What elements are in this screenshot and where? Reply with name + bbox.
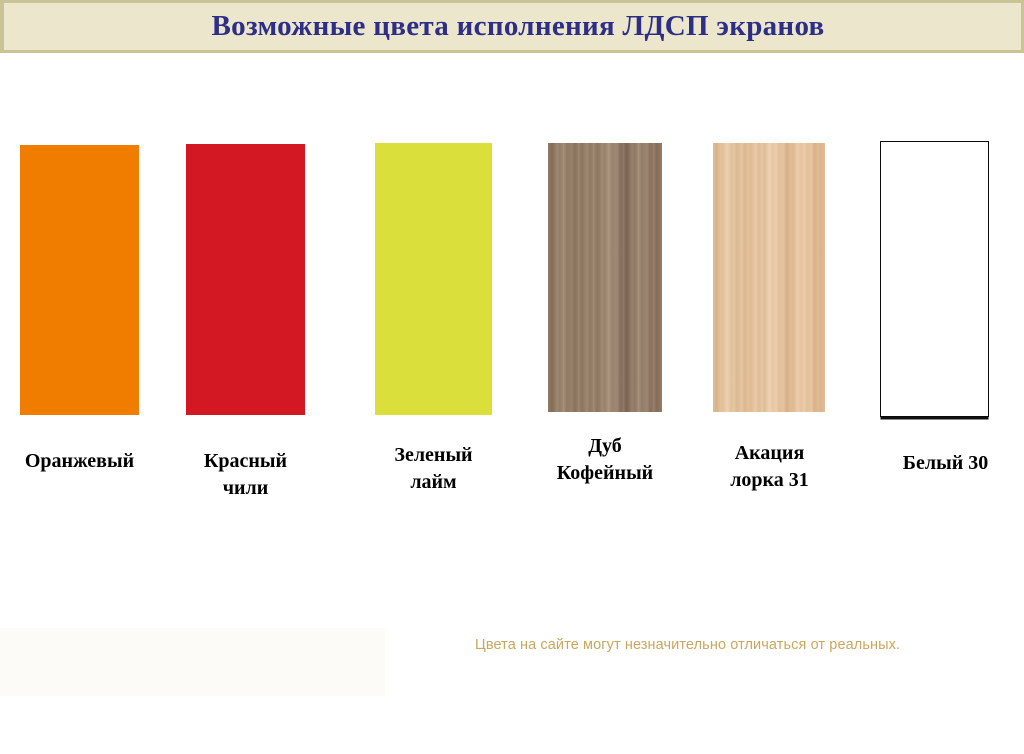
- page-title: Возможные цвета исполнения ЛДСП экранов: [202, 12, 825, 41]
- swatch-label-oak-coffee: Дуб Кофейный: [526, 433, 684, 487]
- color-options-page: Возможные цвета исполнения ЛДСП экранов …: [0, 0, 1024, 754]
- swatch-fill-red-chili: [186, 144, 305, 415]
- color-swatch-red-chili[interactable]: [186, 144, 305, 415]
- footer-panel: [0, 628, 385, 696]
- swatch-label-acacia-lorka-31: Акация лорка 31: [697, 440, 842, 494]
- header-banner: Возможные цвета исполнения ЛДСП экранов: [0, 0, 1024, 53]
- swatch-label-red-chili: Красный чили: [172, 448, 319, 502]
- swatch-fill-green-lime: [375, 143, 492, 415]
- swatch-label-green-lime: Зеленый лайм: [360, 442, 507, 496]
- color-swatch-orange[interactable]: [20, 145, 139, 415]
- header-banner-inner: Возможные цвета исполнения ЛДСП экранов: [8, 6, 1018, 47]
- color-swatch-oak-coffee[interactable]: [548, 143, 662, 412]
- swatch-fill-acacia-lorka-31: [713, 143, 825, 412]
- swatch-fill-white-30: [880, 141, 989, 417]
- swatch-fill-orange: [20, 145, 139, 415]
- swatch-fill-oak-coffee: [548, 143, 662, 412]
- swatch-label-white-30: Белый 30: [872, 450, 1019, 477]
- color-swatch-acacia-lorka-31[interactable]: [713, 143, 825, 412]
- swatch-label-orange: Оранжевый: [6, 448, 153, 475]
- disclaimer-text: Цвета на сайте могут незначительно отлич…: [475, 637, 1015, 653]
- color-swatch-green-lime[interactable]: [375, 143, 492, 415]
- color-swatch-white-30[interactable]: [880, 141, 989, 417]
